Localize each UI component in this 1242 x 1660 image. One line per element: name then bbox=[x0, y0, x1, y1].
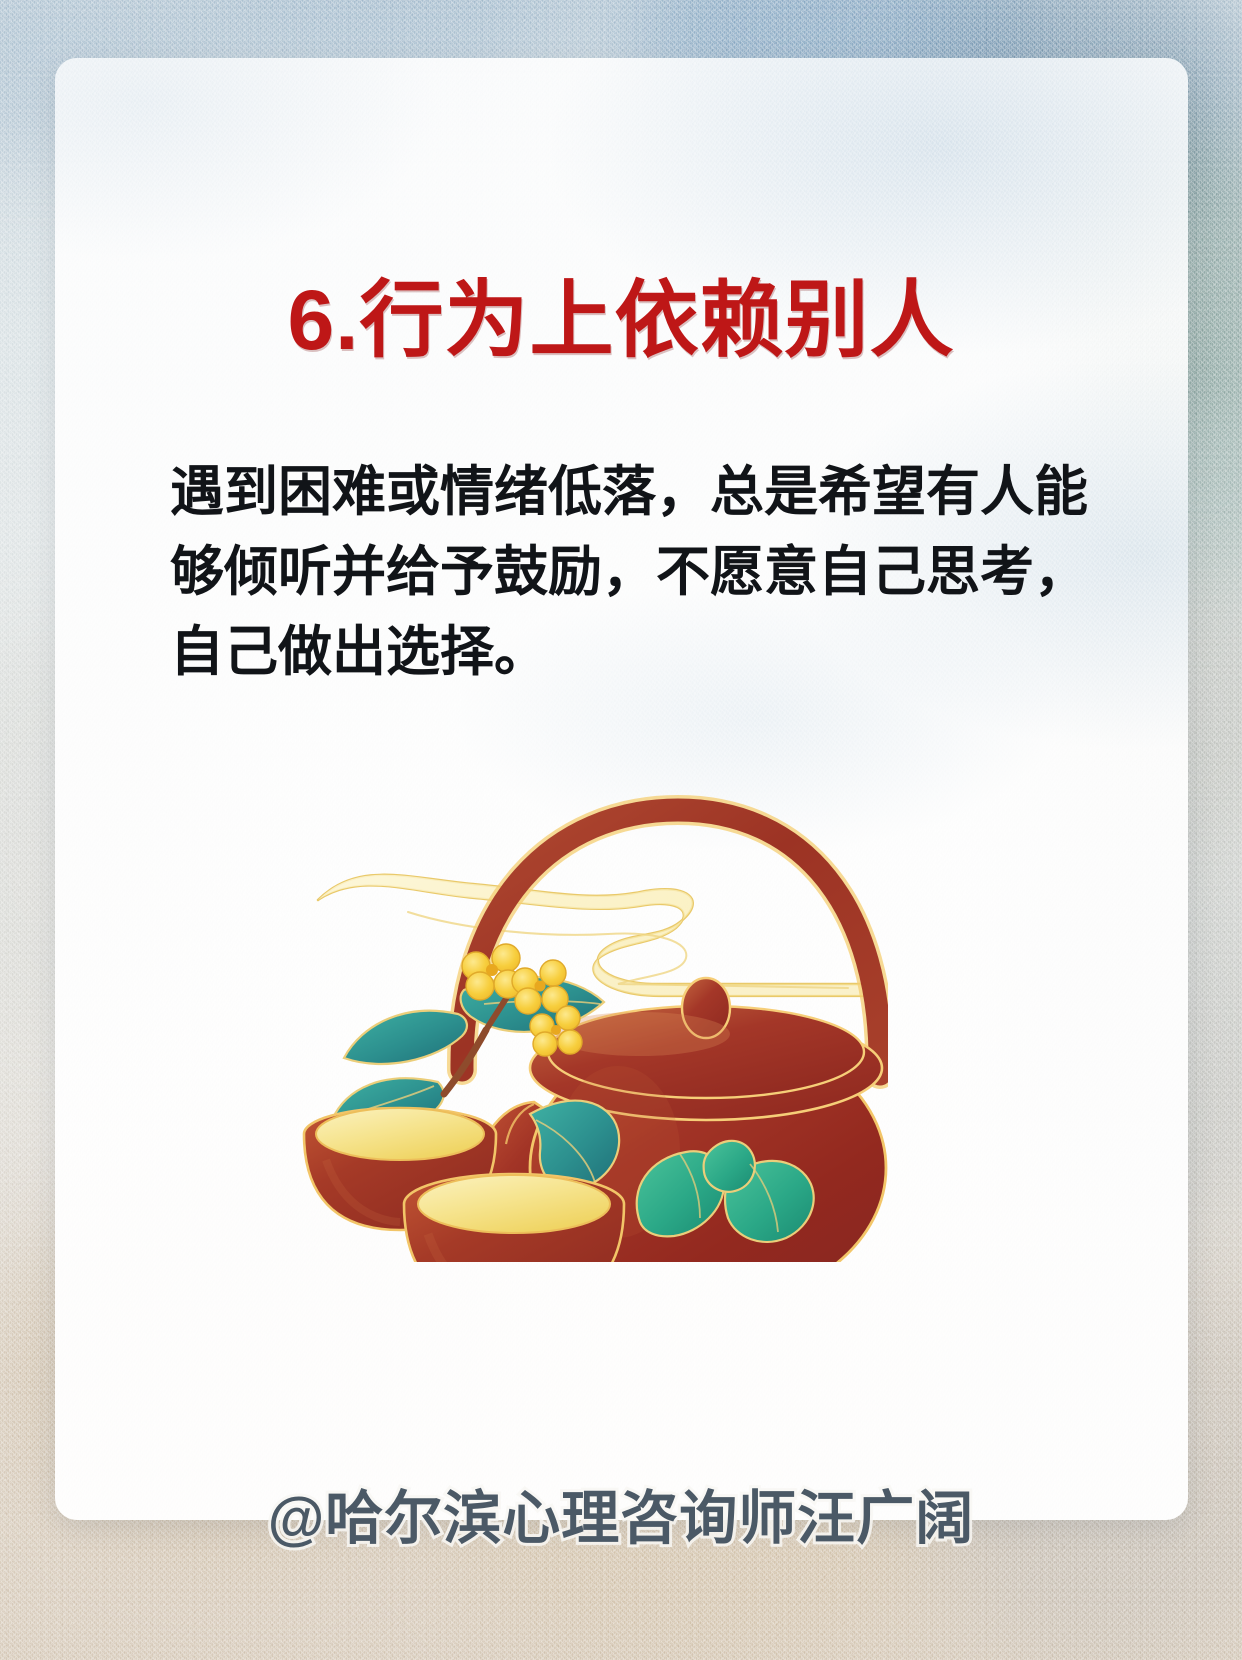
body-line: 遇到困难或情绪低落，总是希望有人能 bbox=[170, 452, 1030, 532]
author-watermark: @哈尔滨心理咨询师汪广阔 bbox=[0, 1490, 1242, 1548]
body-paragraph: 遇到困难或情绪低落，总是希望有人能 够倾听并给予鼓励，不愿意自己思考， 自己做出… bbox=[170, 452, 1030, 692]
steam-swirl-icon bbox=[318, 875, 873, 996]
body-line: 自己做出选择。 bbox=[170, 612, 1030, 692]
body-line: 够倾听并给予鼓励，不愿意自己思考， bbox=[170, 532, 1030, 612]
teapot-illustration bbox=[288, 752, 888, 1262]
page-title: 6.行为上依赖别人 bbox=[0, 278, 1242, 362]
poster-canvas: 6.行为上依赖别人 遇到困难或情绪低落，总是希望有人能 够倾听并给予鼓励，不愿意… bbox=[0, 0, 1242, 1660]
teacup-right bbox=[404, 1174, 624, 1262]
